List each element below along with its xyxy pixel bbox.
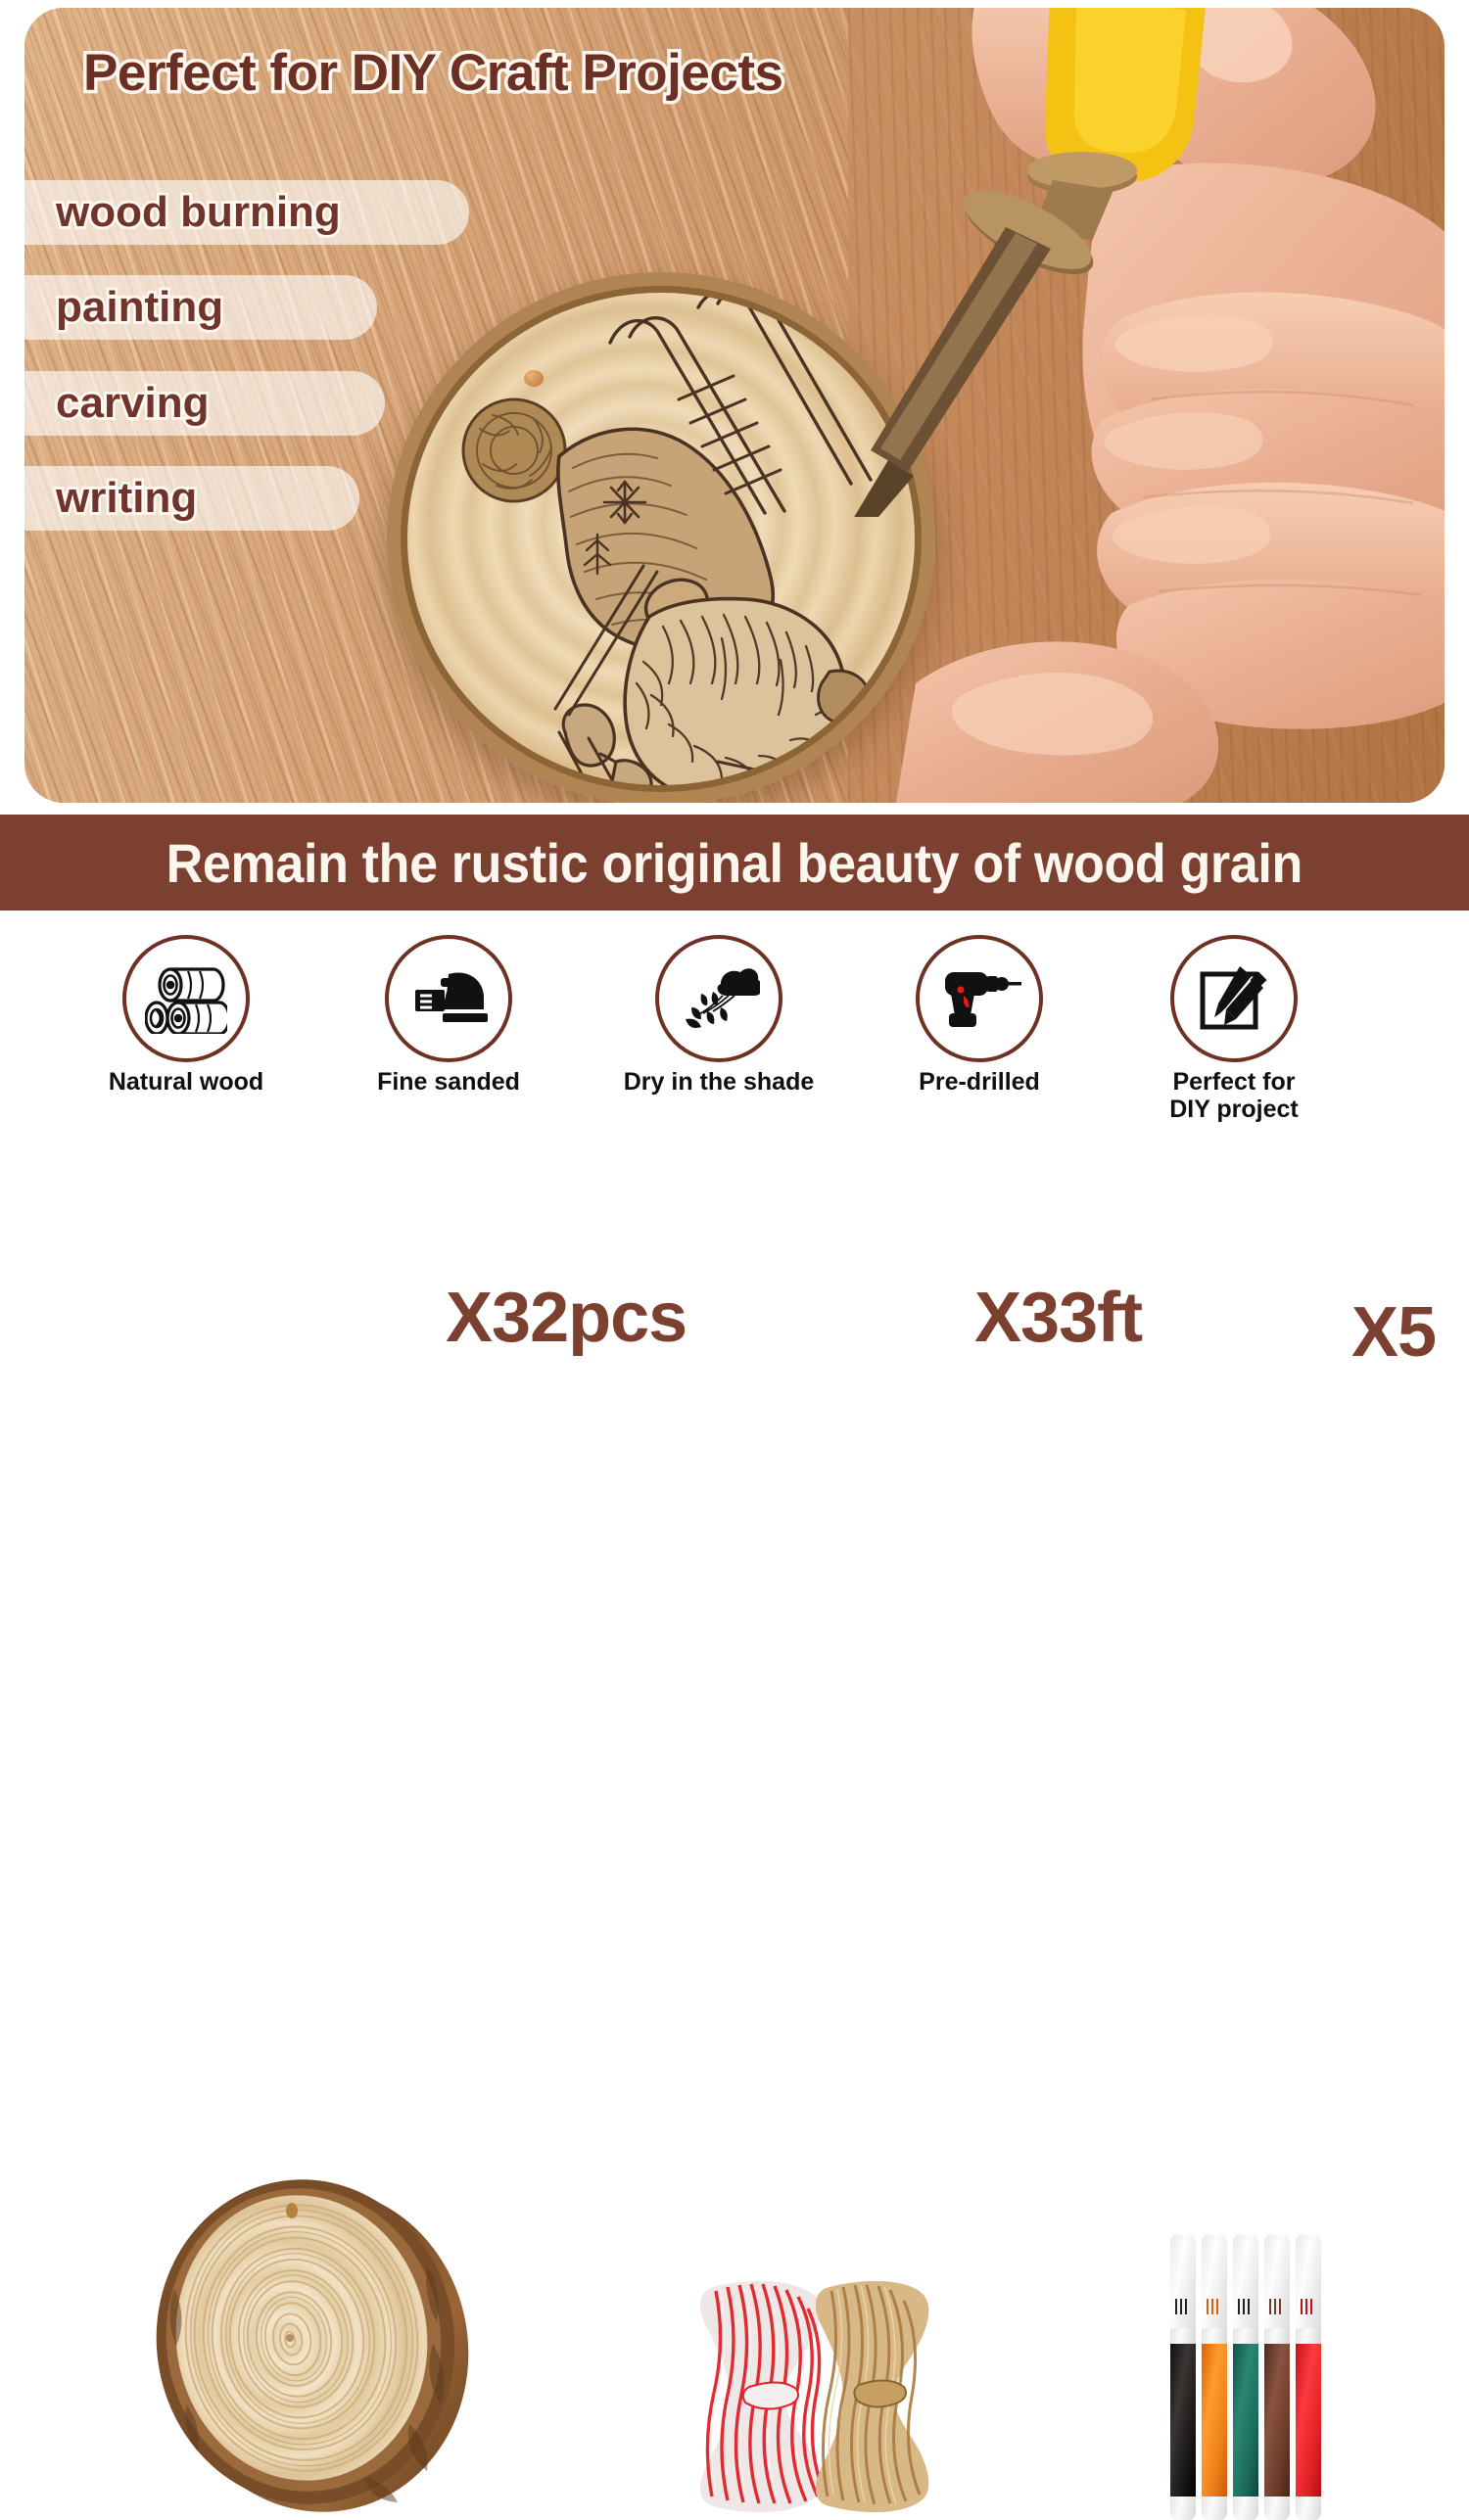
wood-burning-pen-icon: [798, 8, 1219, 517]
pill-label: carving: [56, 379, 210, 428]
sander-icon: [407, 966, 490, 1031]
feature-icon-row: Natural wood Fine sanded: [0, 935, 1469, 1106]
cloud-leaves-icon: [678, 966, 760, 1031]
power-drill-icon: [937, 964, 1021, 1033]
pill-label: painting: [56, 283, 223, 332]
qty-label-twine: X33ft: [974, 1278, 1142, 1358]
feature-label: Fine sanded: [351, 1068, 546, 1096]
feature-pill-carving: carving: [24, 371, 385, 436]
pill-label: wood burning: [56, 188, 341, 237]
feature-fine-sanded: Fine sanded: [351, 935, 546, 1096]
feature-label: Pre-drilled: [881, 1068, 1077, 1096]
feature-pill-writing: writing: [24, 466, 359, 531]
qty-label-slices: X32pcs: [446, 1278, 687, 1358]
feature-pill-painting: painting: [24, 275, 377, 340]
pill-label: writing: [56, 474, 197, 523]
feature-circle: [1170, 935, 1298, 1062]
feature-perfect-for-diy: Perfect for DIY project: [1136, 935, 1332, 1123]
product-wood-slice: [147, 2171, 485, 2516]
hero-photo: Perfect for DIY Craft Projects wood burn…: [24, 8, 1445, 803]
slice-pre-drilled-hole: [524, 370, 544, 387]
marker-black: [1170, 2234, 1196, 2520]
feature-label: Natural wood: [88, 1068, 284, 1096]
product-twine-bundles: [700, 2281, 930, 2516]
marker-green: [1233, 2234, 1258, 2520]
headline-banner: Remain the rustic original beauty of woo…: [0, 815, 1469, 910]
feature-circle: [916, 935, 1043, 1062]
log-stack-icon: [145, 963, 227, 1034]
feature-circle: [655, 935, 782, 1062]
marker-brown: [1264, 2234, 1290, 2520]
qty-label-markers: X5: [1351, 1292, 1436, 1373]
banner-text: Remain the rustic original beauty of woo…: [166, 831, 1303, 895]
marker-orange: [1202, 2234, 1227, 2520]
feature-natural-wood: Natural wood: [88, 935, 284, 1096]
feature-pill-wood-burning: wood burning: [24, 180, 469, 245]
feature-circle: [122, 935, 250, 1062]
feature-dry-in-the-shade: Dry in the shade: [621, 935, 817, 1096]
feature-circle: [385, 935, 512, 1062]
marker-red: [1296, 2234, 1321, 2520]
feature-label: Perfect for DIY project: [1136, 1068, 1332, 1123]
feature-label: Dry in the shade: [621, 1068, 817, 1096]
product-markers: [1170, 2234, 1332, 2520]
page-title: Perfect for DIY Craft Projects: [83, 43, 782, 103]
product-lineup: X32pcs X33ft X5: [0, 1067, 1469, 1454]
feature-pre-drilled: Pre-drilled: [881, 935, 1077, 1096]
pen-square-icon: [1197, 962, 1271, 1035]
